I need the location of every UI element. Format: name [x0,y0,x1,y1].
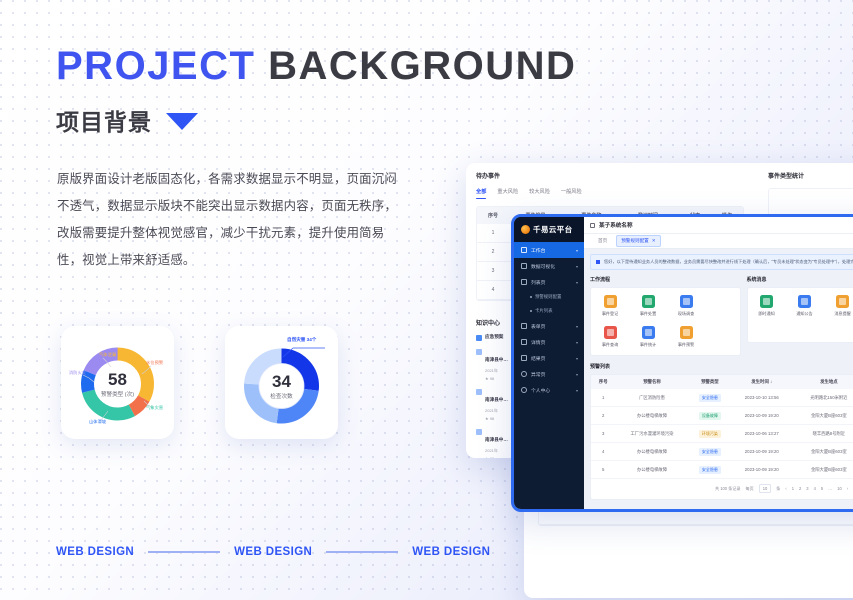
cell-no: 4 [591,443,615,461]
instant-notify-icon [760,295,773,308]
app-event-search[interactable]: 事件查询 [596,326,624,348]
sidebar-subitem-label: 卡片列表 [535,308,553,314]
chevron-down-icon: ▾ [576,388,578,393]
pager-prev[interactable]: ‹ [785,486,786,491]
back-tab-major[interactable]: 重大风险 [497,188,518,195]
document-icon [476,349,482,355]
title-secondary: BACKGROUND [268,44,576,88]
cell-time: 2023-10-09 19:20 [731,407,792,425]
bullet-icon [530,296,532,298]
sidebar-item-label: 表单页 [531,323,545,330]
cell-no: 4 [477,281,509,300]
app-site-survey[interactable]: 现场调查 [672,295,700,317]
pager-perpage-label: 每页 [746,486,754,492]
sidebar-item-data-visualization[interactable]: 数据可视化 ▾ [514,258,584,274]
status-badge: 环境污染 [699,430,721,438]
cell-place: 金阳大厦B座603室 [792,461,853,479]
list-icon [521,279,527,285]
result-icon [521,355,527,361]
cell-no: 3 [591,425,615,443]
th-time: 发生时间 ↓ [731,375,792,389]
app-label: 事件预警 [672,342,700,348]
front-notice-banner: 您好，以下是待通知业务人员的整改数据，业务员需要尽快整改并进行线下处理（确认后，… [590,254,853,270]
cell-place: 晓丰西路8号附近 [792,425,853,443]
app-label: 现场调查 [672,311,700,317]
chevron-down-icon: ▾ [576,280,578,285]
document-icon [476,335,482,341]
chart-icon [521,263,527,269]
donut-1-label-3: 山体滑坡 [89,419,106,425]
sidebar-item-label: 数据可视化 [531,263,555,270]
tab-label: 预警规则配置 [621,238,649,244]
cell-no: 5 [591,461,615,479]
th-place: 发生地点 [792,375,853,389]
back-tab-general[interactable]: 一般风险 [561,188,582,195]
table-row[interactable]: 2 办公楼电梯故障 设备故障 2023-10-09 19:20 金阳大厦B座60… [591,407,853,425]
app-event-stats[interactable]: 事件统计 [634,326,662,348]
kc-item-meta: 2021年 [485,368,508,374]
table-row[interactable]: 5 办公楼电梯故障 安全隐患 2023-10-09 19:20 金阳大厦B座60… [591,461,853,479]
chevron-down-icon: ▾ [576,324,578,329]
chart-card-warning-types: 气体泄漏 水位预警 气象灾害 山体滑坡 消防火灾 58 预警类型 (次) [61,326,174,439]
messages-apps: 即时通知 通知公告 消息提醒 [747,287,853,343]
front-main: 某子系统名称 首页 预警规则配置 ✕ 您好，以下是待通知业务人员的整改数据，业务… [584,217,853,509]
cell-no: 2 [591,407,615,425]
dashboard-icon [521,247,527,253]
warning-list-title: 预警列表 [590,363,853,370]
sidebar-item-label: 异常页 [531,371,545,378]
document-icon [476,429,482,435]
warning-list-table: 序号 预警名称 预警类型 发生时间 ↓ 发生地点 操作 1 广区消防险患 安全隐… [591,375,853,479]
cell-no: 1 [477,224,509,243]
site-survey-icon [680,295,693,308]
app-label: 即时通知 [753,311,781,317]
cell-no: 3 [477,262,509,281]
title-primary: PROJECT [56,44,255,88]
workflow-apps: 事件登记 事件处置 现场调查 事件查询 [590,287,741,356]
sidebar-item-label: 详情页 [531,339,545,346]
info-icon [596,260,600,264]
cell-time: 2023-10-09 19:20 [731,461,792,479]
cell-time: 2023-10-06 13:27 [731,425,792,443]
pager-perpage-select[interactable]: 10 [759,484,772,493]
pager-page-4[interactable]: 4 [814,486,816,491]
cell-name: 办公楼电梯故障 [615,407,688,425]
th-name: 预警名称 [615,375,688,389]
user-icon [521,387,527,393]
back-tab-large[interactable]: 较大风险 [529,188,550,195]
donut-chart-2: 自然灾害 34个 34 检查次数 [225,326,338,439]
donut-1-svg [61,326,174,439]
front-panels: 工作流程 事件登记 事件处置 现场调查 [590,276,853,356]
donut-1-label-2: 气象灾害 [146,405,163,411]
kc-item-sub: ★ 98 [485,416,508,421]
back-todo-title: 待办事件 [476,171,744,180]
close-icon[interactable]: ✕ [652,238,656,244]
table-row[interactable]: 3 工厂污水漫灌环境污染 环境污染 2023-10-06 13:27 晓丰西路8… [591,425,853,443]
donut-chart-1: 气体泄漏 水位预警 气象灾害 山体滑坡 消防火灾 58 预警类型 (次) [61,326,174,439]
warning-icon [521,371,527,377]
subtitle-row: 项目背景 [56,103,198,137]
message-reminder-icon [836,295,849,308]
donut-1-label-0: 气体泄漏 [99,352,116,358]
cell-place: 金阳大厦B座603室 [792,407,853,425]
page-title: PROJECT BACKGROUND [56,44,576,89]
kc-item-meta: 2021年 [485,408,508,414]
app-label: 通知公告 [791,311,819,317]
sidebar-item-label: 列表页 [531,279,545,286]
app-label: 消息提醒 [829,311,853,317]
status-badge: 设备故障 [699,412,721,420]
front-topbar: 某子系统名称 [584,217,853,234]
tab-home[interactable]: 首页 [594,236,611,246]
app-instant-notify[interactable]: 即时通知 [753,295,781,335]
subtitle-chinese: 项目背景 [56,103,152,137]
kc-item-title: 南津县中… [485,397,508,402]
document-icon [476,389,482,395]
back-stats-title: 事件类型统计 [768,171,853,180]
donut-1-label-4: 消防火灾 [69,370,86,376]
th-no: 序号 [477,207,509,224]
chevron-down-icon: ▾ [576,372,578,377]
donut-1-label-1: 水位预警 [146,360,163,366]
pager-page-last[interactable]: 10 [837,486,842,491]
kc-item-title: 南津县中… [485,437,508,442]
app-label: 事件处置 [634,311,662,317]
sidebar-item-detail-page[interactable]: 详情页 ▾ [514,334,584,350]
workflow-title: 工作流程 [590,276,741,283]
footer: WEB DESIGN WEB DESIGN WEB DESIGN [56,546,490,558]
pager-page-2[interactable]: 2 [799,486,801,491]
cell-place: 金阳大厦B座603室 [792,443,853,461]
detail-icon [521,339,527,345]
kc-item-sub: ★ 98 [485,376,508,381]
tab-warning-rules[interactable]: 预警规则配置 ✕ [616,235,660,247]
cell-name: 办公楼电梯故障 [615,443,688,461]
chevron-down-icon: ▾ [576,248,578,253]
cell-no: 1 [591,389,615,407]
triangle-down-icon [166,113,198,130]
kc-item-meta: 2021年 [485,448,508,454]
sidebar-item-label: 工作台 [531,247,545,254]
cell-time: 2023-10-10 13:56 [731,389,792,407]
slide-canvas: PROJECT BACKGROUND 项目背景 原版界面设计老版固态化，各需求数… [0,0,853,600]
th-no: 序号 [591,375,615,389]
messages-panel: 系统消息 即时通知 通知公告 消息提醒 [747,276,853,356]
pager-next[interactable]: › [847,486,848,491]
body-paragraph: 原版界面设计老版固态化，各需求数据显示不明显，页面沉闷不透气，数据显示版块不能突… [57,166,397,274]
mockup-window-front: 千易云平台 工作台 ▾ 数据可视化 ▾ 列表页 ▾ 预警规则配置 [511,214,853,512]
menu-toggle-icon[interactable] [590,223,595,228]
app-event-warning[interactable]: 事件预警 [672,326,700,348]
donut-2-callout: 自然灾害 34个 [287,337,316,343]
status-badge: 安全隐患 [699,466,721,474]
pager-perpage-unit: 条 [776,486,780,492]
cell-name: 广区消防险患 [615,389,688,407]
kc-item-title: 应急预案 [485,334,503,340]
pager-total: 共 100 条记录 [715,486,740,492]
sidebar-item-label: 结果页 [531,355,545,362]
sidebar-item-list-page[interactable]: 列表页 ▾ [514,274,584,290]
footer-divider-2 [326,551,398,553]
warning-list-table-wrap: 序号 预警名称 预警类型 发生时间 ↓ 发生地点 操作 1 广区消防险患 安全隐… [590,374,853,500]
pager-page-1[interactable]: 1 [792,486,794,491]
cell-name: 办公楼电梯故障 [615,461,688,479]
app-event-handle[interactable]: 事件处置 [634,295,662,317]
back-tab-all[interactable]: 全部 [476,188,486,195]
table-row[interactable] [539,512,853,525]
kc-item-sub: ★ 98 [485,456,508,458]
form-icon [521,323,527,329]
chart-card-inspections: 自然灾害 34个 34 检查次数 [225,326,338,439]
logo-mark-icon [521,225,530,234]
sidebar-item-personal-center[interactable]: 个人中心 ▾ [514,382,584,398]
status-badge: 安全隐患 [699,448,721,456]
cell-place: 光明路北150米附近 [792,389,853,407]
pager-ellipsis: … [828,486,832,491]
chevron-down-icon: ▾ [576,340,578,345]
sidebar-subitem-warning-rules[interactable]: 预警规则配置 [514,290,584,304]
event-search-icon [604,326,617,339]
front-tab-bar: 首页 预警规则配置 ✕ [584,234,853,249]
cell-no: 2 [477,243,509,262]
sidebar-subitem-label: 预警规则配置 [535,294,561,300]
pagination: 共 100 条记录 每页 10 条 ‹ 1 2 3 4 5 … 10 › 前往 … [591,479,853,499]
event-stats-icon [642,326,655,339]
footer-divider-1 [148,551,220,553]
cell-name: 工厂污水漫灌环境污染 [615,425,688,443]
kc-item-title: 南津县中… [485,357,508,362]
notice-text: 您好，以下是待通知业务人员的整改数据，业务员需要尽快整改并进行线下处理（确认后，… [604,259,853,265]
app-label: 事件查询 [596,342,624,348]
donut-2-svg [225,326,338,439]
footer-label-3: WEB DESIGN [412,546,490,558]
sidebar-item-result-page[interactable]: 结果页 ▾ [514,350,584,366]
pager-page-5[interactable]: 5 [821,486,823,491]
bullet-icon [530,310,532,312]
pager-page-3[interactable]: 3 [806,486,808,491]
chevron-down-icon: ▾ [576,264,578,269]
footer-label-2: WEB DESIGN [234,546,312,558]
sidebar-item-label: 个人中心 [531,387,550,394]
table-row[interactable]: 4 办公楼电梯故障 安全隐患 2023-10-09 19:20 金阳大厦B座60… [591,443,853,461]
workflow-panel: 工作流程 事件登记 事件处置 现场调查 [590,276,741,356]
footer-label-1: WEB DESIGN [56,546,134,558]
messages-title: 系统消息 [747,276,853,283]
th-type: 预警类型 [689,375,732,389]
app-label: 事件统计 [634,342,662,348]
event-warning-icon [680,326,693,339]
back-todo-tabs: 全部 重大风险 较大风险 一般风险 [476,188,744,195]
event-handle-icon [642,295,655,308]
sidebar-item-form-page[interactable]: 表单页 ▾ [514,318,584,334]
app-label: 事件登记 [596,311,624,317]
brand-logo[interactable]: 千易云平台 [514,217,584,242]
announcement-icon [798,295,811,308]
front-topbar-title: 某子系统名称 [599,221,633,229]
chevron-down-icon: ▾ [576,356,578,361]
event-register-icon [604,295,617,308]
app-announcement[interactable]: 通知公告 [791,295,819,335]
cell-time: 2023-10-09 19:20 [731,443,792,461]
sidebar-subitem-card-list[interactable]: 卡片列表 [514,304,584,318]
table-header-row: 序号 预警名称 预警类型 发生时间 ↓ 发生地点 操作 [591,375,853,389]
brand-name: 千易云平台 [533,224,572,235]
front-sidebar: 千易云平台 工作台 ▾ 数据可视化 ▾ 列表页 ▾ 预警规则配置 [514,217,584,509]
status-badge: 安全隐患 [699,394,721,402]
table-row[interactable]: 1 广区消防险患 安全隐患 2023-10-10 13:56 光明路北150米附… [591,389,853,407]
app-event-register[interactable]: 事件登记 [596,295,624,317]
sidebar-item-workbench[interactable]: 工作台 ▾ [514,242,584,258]
donut-2-inner-ring [259,364,304,409]
sidebar-item-exception-page[interactable]: 异常页 ▾ [514,366,584,382]
app-message-reminder[interactable]: 消息提醒 [829,295,853,335]
